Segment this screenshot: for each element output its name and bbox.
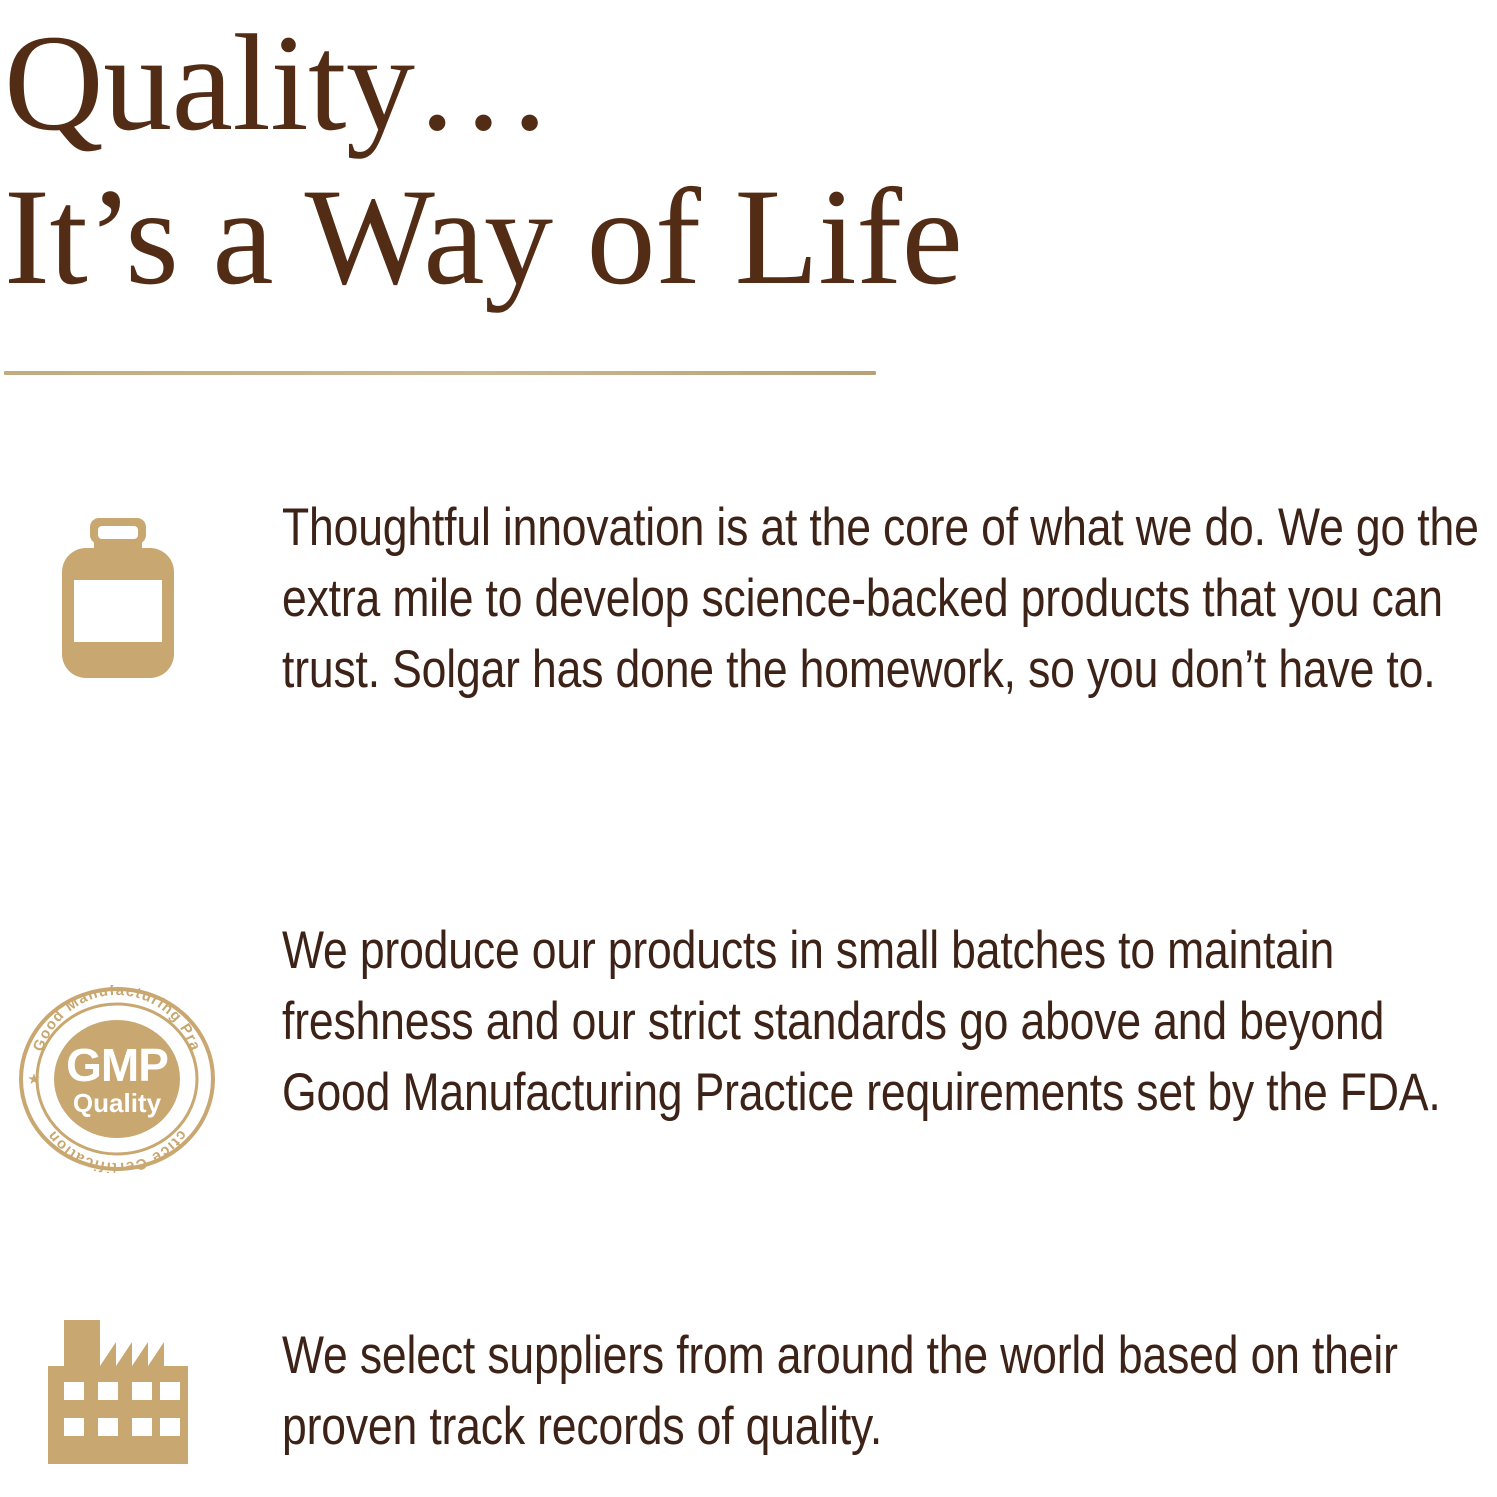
feature-row-innovation: Thoughtful innovation is at the core of … [0,492,1497,705]
svg-text:★: ★ [27,1070,40,1088]
factory-icon [42,1320,194,1464]
horizontal-divider [4,371,876,375]
svg-text:GMP: GMP [66,1039,168,1091]
page-title-line-1: Quality… [4,8,1204,158]
feature-text-gmp: We produce our products in small batches… [282,915,1497,1128]
gmp-quality-seal-icon: ★ Good Manufacturing Pra ctice Certifica… [18,985,216,1173]
svg-text:Quality: Quality [73,1088,162,1118]
feature-text-innovation: Thoughtful innovation is at the core of … [282,492,1497,705]
feature-row-gmp: ★ Good Manufacturing Pra ctice Certifica… [0,915,1497,1128]
page-title: Quality… It’s a Way of Life [4,0,1204,312]
page-title-line-2: It’s a Way of Life [4,162,1204,312]
feature-text-suppliers: We select suppliers from around the worl… [282,1320,1497,1462]
feature-row-suppliers: We select suppliers from around the worl… [0,1320,1497,1462]
supplement-bottle-icon [60,518,176,678]
